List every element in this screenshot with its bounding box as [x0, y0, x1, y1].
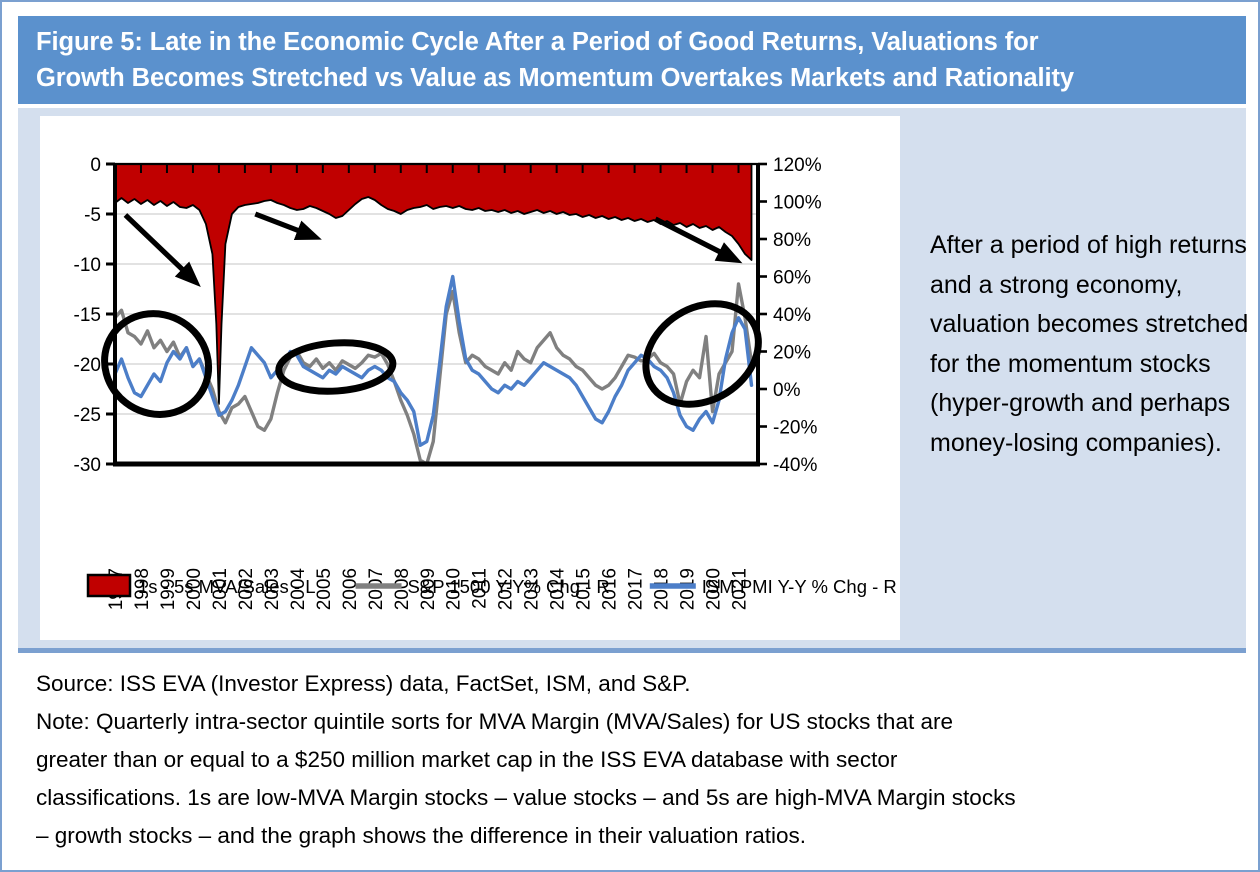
right-axis-tick-label: 20%	[773, 343, 811, 364]
note-line-1: Note: Quarterly intra-sector quintile so…	[36, 704, 1230, 740]
right-axis-tick-label: 120%	[773, 155, 822, 176]
left-axis-tick-label: -10	[74, 255, 101, 276]
legend-label-0: 1s - 5s MVA/Sales - L	[138, 576, 316, 597]
left-axis-tick-label: -20	[74, 355, 101, 376]
x-axis-tick-label: 2006	[340, 568, 361, 610]
left-axis-tick-label: -15	[74, 305, 101, 326]
right-axis-tick-label: -20%	[773, 418, 817, 439]
chart-annotation-text: After a period of high returns and a str…	[930, 226, 1252, 463]
left-axis-tick-label: -5	[84, 205, 101, 226]
chart-svg: 0-5-10-15-20-25-30120%100%80%60%40%20%0%…	[40, 116, 900, 640]
chart-plot-area: 0-5-10-15-20-25-30120%100%80%60%40%20%0%…	[40, 116, 900, 640]
note-line-2: greater than or equal to a $250 million …	[36, 742, 1230, 778]
note-line-4: – growth stocks – and the graph shows th…	[36, 818, 1230, 854]
right-axis-tick-label: 80%	[773, 230, 811, 251]
x-axis-tick-label: 2005	[314, 568, 335, 610]
x-axis-tick-label: 2018	[652, 568, 673, 610]
legend-swatch-mva-sales	[88, 575, 130, 596]
figure-title-band: Figure 5: Late in the Economic Cycle Aft…	[18, 16, 1246, 104]
figure-footer: Source: ISS EVA (Investor Express) data,…	[18, 654, 1246, 858]
chart-card: 0-5-10-15-20-25-30120%100%80%60%40%20%0%…	[40, 116, 900, 640]
arrow-2002-2004-icon	[255, 214, 315, 237]
note-line-3: classifications. 1s are low-MVA Margin s…	[36, 780, 1230, 816]
right-axis-tick-label: 100%	[773, 193, 822, 214]
left-axis-tick-label: 0	[90, 155, 101, 176]
legend-label-2: ISM PMI Y-Y % Chg - R	[702, 576, 897, 597]
page-title: Figure 5: Late in the Economic Cycle Aft…	[36, 24, 1232, 96]
right-axis-tick-label: -40%	[773, 455, 817, 476]
x-axis-tick-label: 2019	[678, 568, 699, 610]
right-axis-tick-label: 0%	[773, 380, 801, 401]
right-axis-tick-label: 40%	[773, 305, 811, 326]
left-axis-tick-label: -30	[74, 455, 101, 476]
legend-label-1: S&P 1500 Y-Y% Chg - R	[408, 576, 610, 597]
arrow-1997-2001-icon	[125, 215, 195, 282]
x-axis-tick-label: 2007	[366, 568, 387, 610]
figure-body-panel: 0-5-10-15-20-25-30120%100%80%60%40%20%0%…	[18, 108, 1246, 648]
right-axis-tick-label: 60%	[773, 268, 811, 289]
left-axis-tick-label: -25	[74, 405, 101, 426]
source-line: Source: ISS EVA (Investor Express) data,…	[36, 666, 1230, 702]
footer-divider	[18, 648, 1246, 653]
x-axis-tick-label: 2017	[626, 568, 647, 610]
figure-container: Figure 5: Late in the Economic Cycle Aft…	[0, 0, 1260, 872]
